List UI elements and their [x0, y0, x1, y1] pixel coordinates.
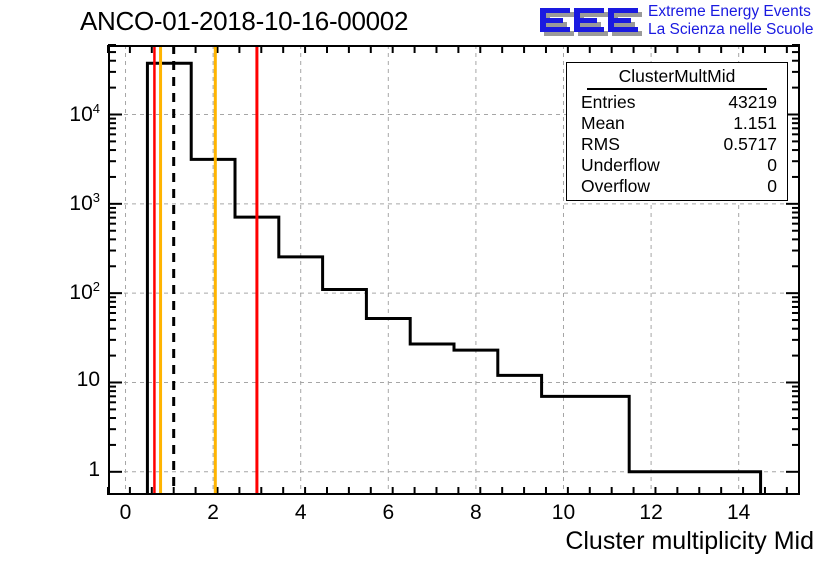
stats-row-key: RMS [581, 134, 620, 155]
stats-row-key: Entries [581, 92, 635, 113]
x-axis-title: Cluster multiplicity Mid [565, 527, 814, 556]
stats-row-value: 43219 [728, 92, 777, 113]
stats-box: ClusterMultMid Entries43219Mean1.151RMS0… [566, 62, 788, 201]
stats-row: Entries43219 [573, 92, 781, 113]
stats-row-key: Overflow [581, 176, 650, 197]
stats-rows: Entries43219Mean1.151RMS0.5717Underflow0… [573, 92, 781, 197]
stats-row-key: Underflow [581, 155, 660, 176]
stats-row-value: 0 [767, 155, 777, 176]
stats-row-value: 1.151 [733, 113, 777, 134]
stats-box-title: ClusterMultMid [587, 65, 767, 90]
chart-canvas: ANCO-01-2018-10-16-00002 [0, 0, 836, 572]
stats-row: Underflow0 [573, 155, 781, 176]
stats-row: Mean1.151 [573, 113, 781, 134]
stats-row-value: 0.5717 [723, 134, 777, 155]
stats-row-value: 0 [767, 176, 777, 197]
stats-row: Overflow0 [573, 176, 781, 197]
stats-row-key: Mean [581, 113, 625, 134]
stats-row: RMS0.5717 [573, 134, 781, 155]
